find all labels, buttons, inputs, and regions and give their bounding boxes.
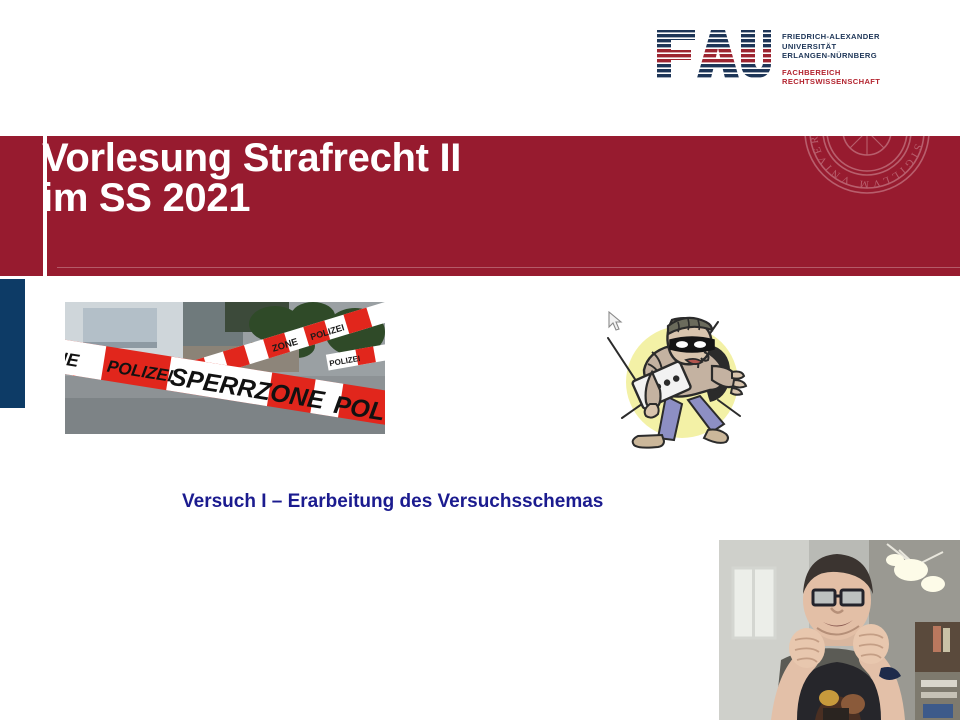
mouse-cursor-icon bbox=[608, 311, 624, 333]
banner-underline bbox=[57, 267, 960, 268]
blue-accent-bar bbox=[0, 279, 25, 408]
logo-line-3: ERLANGEN-NÜRNBERG bbox=[782, 51, 880, 61]
logo-line-2: UNIVERSITÄT bbox=[782, 42, 880, 52]
banner-left-block bbox=[0, 136, 43, 276]
police-tape-photo: ZONE POLIZEI NE POLIZEI SPERRZONE POL PO… bbox=[65, 302, 385, 441]
university-seal-watermark: SIGILLVM VNIVERSITATIS bbox=[802, 136, 932, 196]
logo-line-1: FRIEDRICH-ALEXANDER bbox=[782, 32, 880, 42]
slide-subtitle: Versuch I – Erarbeitung des Versuchssche… bbox=[182, 487, 612, 517]
fau-department-text: FACHBEREICH RECHTSWISSENSCHAFT bbox=[782, 68, 880, 87]
fau-logo-text: FRIEDRICH-ALEXANDER UNIVERSITÄT ERLANGEN… bbox=[782, 28, 880, 87]
dept-line-1: FACHBEREICH bbox=[782, 68, 880, 78]
slide-canvas: FRIEDRICH-ALEXANDER UNIVERSITÄT ERLANGEN… bbox=[0, 0, 960, 720]
title-line-2: im SS 2021 bbox=[42, 178, 682, 218]
fau-logo-mark bbox=[655, 28, 773, 80]
fau-logo: FRIEDRICH-ALEXANDER UNIVERSITÄT ERLANGEN… bbox=[655, 28, 880, 87]
burglar-clipart bbox=[600, 300, 760, 460]
svg-text:SIGILLVM VNIVERSITATIS: SIGILLVM VNIVERSITATIS bbox=[809, 136, 932, 196]
lecturer-webcam-overlay[interactable] bbox=[719, 540, 960, 720]
slide-title: Vorlesung Strafrecht II im SS 2021 bbox=[42, 138, 682, 218]
dept-line-2: RECHTSWISSENSCHAFT bbox=[782, 77, 880, 87]
title-line-1: Vorlesung Strafrecht II bbox=[42, 138, 682, 178]
